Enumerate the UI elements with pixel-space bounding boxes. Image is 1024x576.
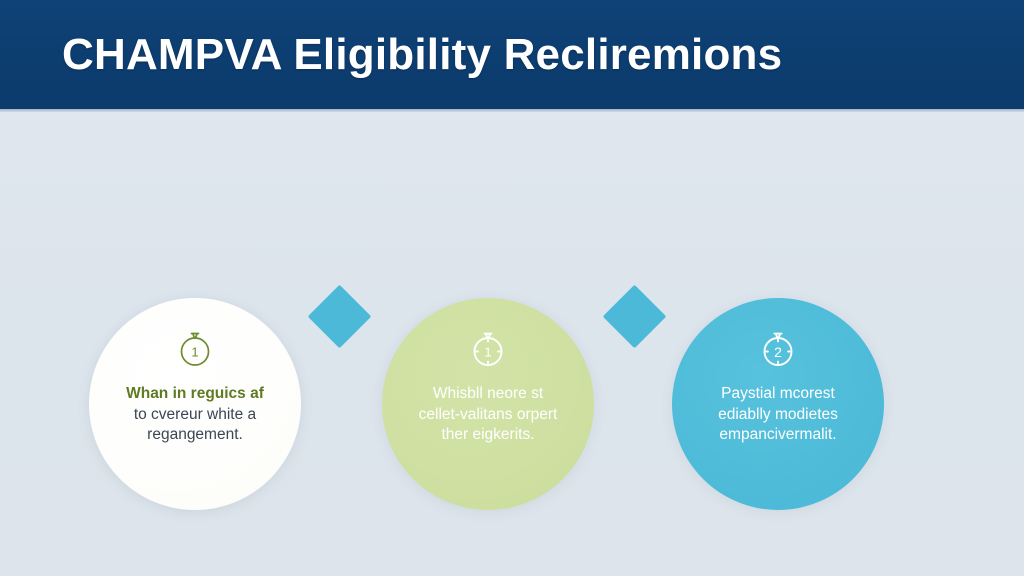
- step-body-line-1a: to cvereur white a: [102, 405, 288, 426]
- step-heading-3: Paystial mcorest: [685, 384, 871, 405]
- header-bar: CHAMPVA Eligibility Recliremions: [0, 0, 1024, 109]
- step-body-line-3a: ediablly modietes: [685, 405, 871, 426]
- connector-diamond-1: [308, 285, 372, 349]
- step-circle-1[interactable]: 1 Whan in reguics af to cvereur white a …: [89, 298, 301, 510]
- step-text-1: Whan in reguics af to cvereur white a re…: [102, 384, 288, 446]
- page-title: CHAMPVA Eligibility Recliremions: [62, 33, 782, 77]
- infographic-page: CHAMPVA Eligibility Recliremions 1 Whan …: [0, 0, 1024, 576]
- step-badge-number-2: 1: [484, 345, 491, 360]
- step-circle-3[interactable]: 2 Paystial mcorest ediablly modietes emp…: [672, 298, 884, 510]
- stopwatch-icon: 1: [465, 326, 511, 372]
- step-text-2: Whisbll neore st cellet-valitans orpert …: [395, 384, 581, 446]
- stopwatch-icon: 2: [755, 326, 801, 372]
- stopwatch-icon: 1: [172, 326, 218, 372]
- step-heading-2: Whisbll neore st: [395, 384, 581, 405]
- connector-diamond-2: [603, 285, 667, 349]
- step-heading-1: Whan in reguics af: [102, 384, 288, 405]
- step-body-line-3b: empancivermalit.: [685, 425, 871, 446]
- steps-row: 1 Whan in reguics af to cvereur white a …: [0, 109, 1024, 576]
- step-text-3: Paystial mcorest ediablly modietes empan…: [685, 384, 871, 446]
- step-badge-number-3: 2: [774, 344, 782, 360]
- step-circle-2[interactable]: 1 Whisbll neore st cellet-valitans orper…: [382, 298, 594, 510]
- step-body-line-2b: ther eigkerits.: [395, 425, 581, 446]
- step-body-line-1b: regangement.: [102, 425, 288, 446]
- step-body-line-2a: cellet-valitans orpert: [395, 405, 581, 426]
- step-badge-number-1: 1: [191, 345, 198, 360]
